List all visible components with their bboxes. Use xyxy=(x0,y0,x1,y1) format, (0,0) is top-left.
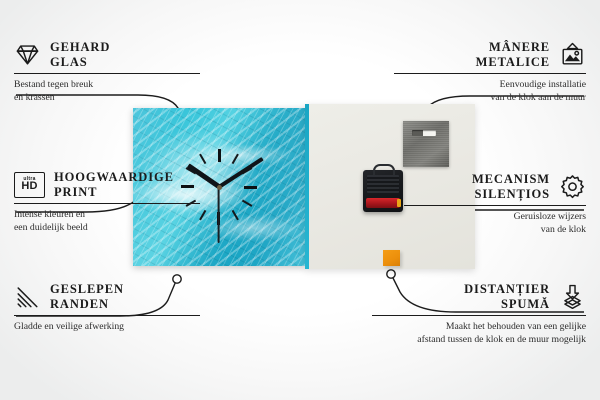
battery-terminal xyxy=(397,199,401,207)
callout-rule xyxy=(404,205,586,206)
wall-mount-picture-icon xyxy=(559,41,586,68)
battery xyxy=(366,198,400,208)
panel-edge xyxy=(305,104,309,269)
gear-icon xyxy=(559,173,586,200)
callout-hoogwaardige-print: ultra HD HOOGWAARDIGE PRINT Intense kleu… xyxy=(14,170,200,234)
callout-title: MÂNERE METALICE xyxy=(476,40,550,69)
callout-distantier-spuma: DISTANȚIER SPUMĂ Maakt het behouden van … xyxy=(372,282,586,346)
callout-desc: Maakt het behouden van een gelijke afsta… xyxy=(372,321,586,345)
mechanism-vents xyxy=(367,175,399,193)
down-arrow-stack-icon xyxy=(559,283,586,310)
callout-desc: Intense kleuren en een duidelijk beeld xyxy=(14,209,200,233)
callout-geslepen-randen: GESLEPEN RANDEN Gladde en veilige afwerk… xyxy=(14,282,200,334)
ultra-hd-icon: ultra HD xyxy=(14,172,45,198)
keyhole-slot xyxy=(412,130,436,136)
ultra-hd-bottom-label: HD xyxy=(21,181,37,192)
callout-rule xyxy=(14,315,200,316)
callout-title: DISTANȚIER SPUMĂ xyxy=(464,282,550,311)
callout-desc: Gladde en veilige afwerking xyxy=(14,321,200,333)
callout-desc: Geruisloze wijzers van de klok xyxy=(404,211,586,235)
mechanism-hanger-loop xyxy=(373,164,395,175)
callout-gehard-glas: GEHARD GLAS Bestand tegen breuk en krass… xyxy=(14,40,200,104)
callout-desc: Eenvoudige installatie van de klok aan d… xyxy=(394,79,586,103)
leader-dot-distantier-spuma xyxy=(387,270,395,278)
callout-desc: Bestand tegen breuk en krassen xyxy=(14,79,200,103)
callout-rule xyxy=(14,73,200,74)
callout-rule xyxy=(372,315,586,316)
hanger-plate xyxy=(403,121,449,167)
callout-title: GEHARD GLAS xyxy=(50,40,110,69)
callout-rule xyxy=(14,203,200,204)
clock-center-cap xyxy=(217,185,222,190)
diamond-icon xyxy=(14,41,41,68)
clock-second-hand xyxy=(218,187,220,243)
foam-spacer xyxy=(383,250,400,266)
infographic-canvas: GEHARD GLAS Bestand tegen breuk en krass… xyxy=(0,0,600,400)
callout-mecanism-silentios: MECANISM SILENȚIOS Geruisloze wijzers va… xyxy=(404,172,586,236)
callout-rule xyxy=(394,73,586,74)
callout-title: GESLEPEN RANDEN xyxy=(50,282,124,311)
callout-title: HOOGWAARDIGE PRINT xyxy=(54,170,174,199)
callout-title: MECANISM SILENȚIOS xyxy=(472,172,550,201)
callout-manere-metalice: MÂNERE METALICE Eenvoudige installatie v… xyxy=(394,40,586,104)
beveled-edge-icon xyxy=(14,283,41,310)
clock-mechanism xyxy=(363,170,403,212)
